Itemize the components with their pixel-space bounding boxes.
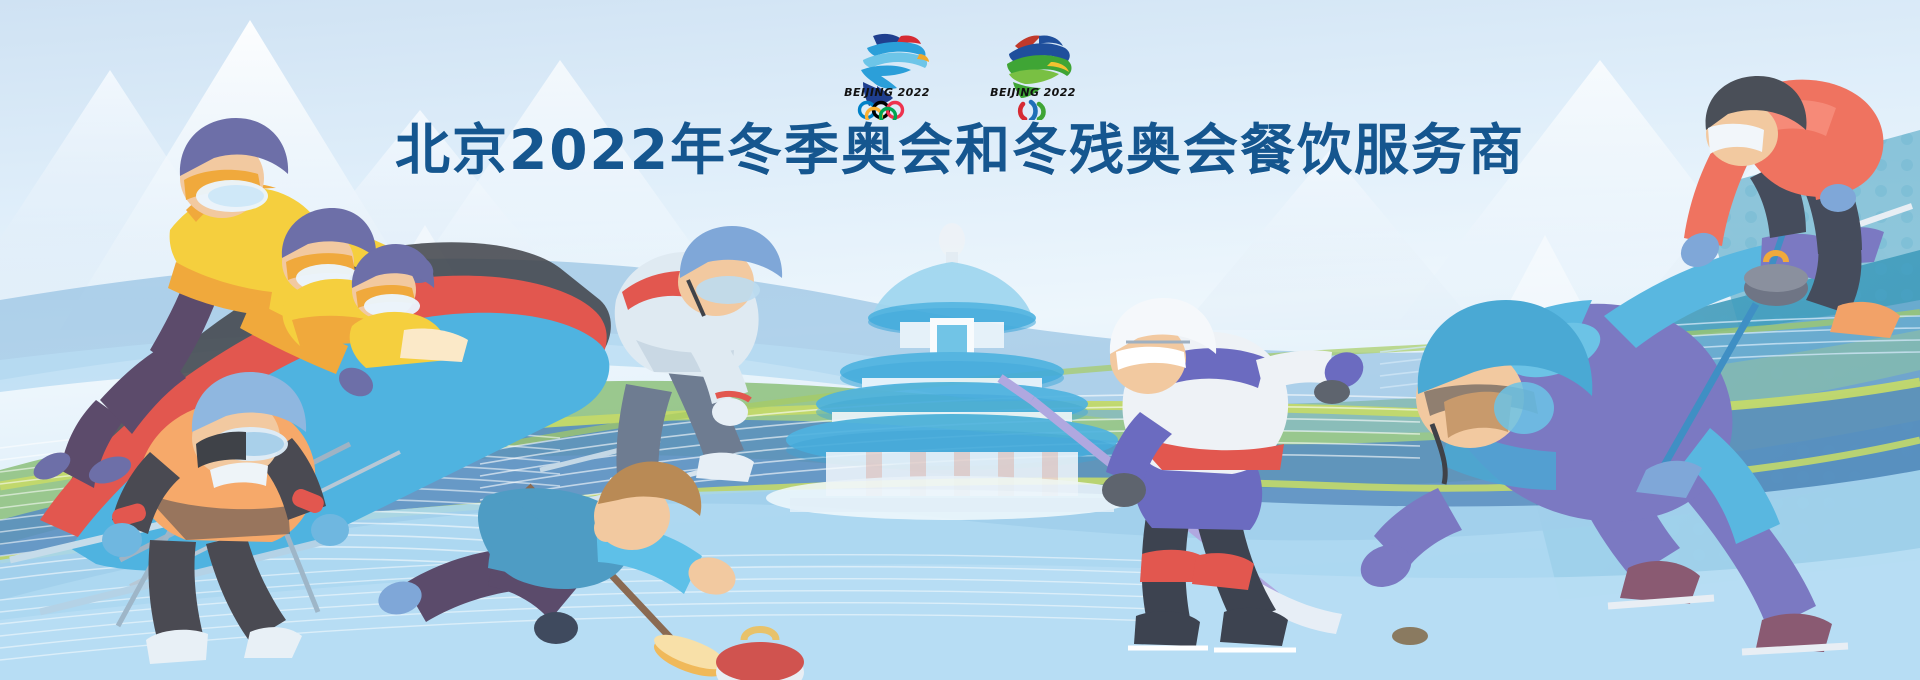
paralympic-wordmark: BEIJING 2022 (979, 86, 1087, 99)
olympic-rings (860, 103, 903, 121)
olympic-wordmark: BEIJING 2022 (833, 86, 941, 99)
paralympic-emblem: BEIJING 2022 (979, 24, 1087, 120)
emblem-row: BEIJING 2022 BEIJING 20 (0, 24, 1920, 120)
banner-title: 北京2022年冬季奥会和冬残奥会餐饮服务商 (395, 120, 1525, 181)
paralympic-agitos (1020, 102, 1043, 120)
olympic-emblem: BEIJING 2022 (833, 24, 941, 120)
ice-hockey-player (1000, 298, 1428, 650)
olympics-banner: BEIJING 2022 BEIJING 20 (0, 0, 1920, 680)
banner-title-wrap: 北京2022年冬季奥会和冬残奥会餐饮服务商 (0, 120, 1920, 181)
curler-sliding (374, 461, 804, 680)
